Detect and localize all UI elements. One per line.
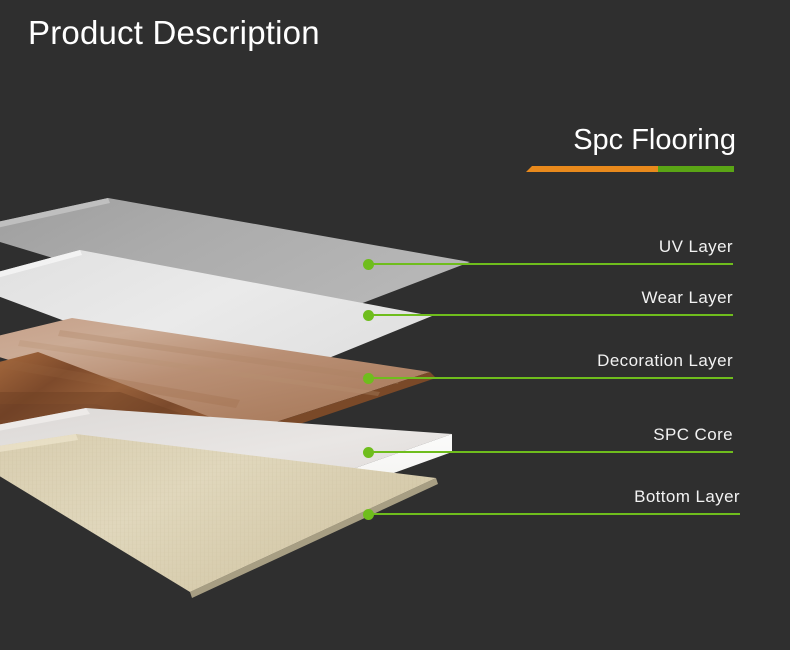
callout-leader-line: [368, 377, 733, 379]
underline-segment-orange: [526, 166, 658, 172]
spc-flooring-exploded-illustration: [0, 0, 790, 650]
callout-leader-line: [368, 513, 740, 515]
underline-segment-green: [658, 166, 734, 172]
callout-leader-line: [368, 314, 733, 316]
product-description-banner: Product Description Spc Flooring UV Laye…: [0, 0, 790, 650]
section-heading: Spc Flooring: [486, 124, 736, 157]
callout-label-wear-layer: Wear Layer: [641, 288, 733, 308]
page-title: Product Description: [28, 14, 320, 52]
callout-leader-line: [368, 263, 733, 265]
callout-label-decoration-layer: Decoration Layer: [597, 351, 733, 371]
callout-label-spc-core: SPC Core: [653, 425, 733, 445]
callout-leader-line: [368, 451, 733, 453]
callout-label-bottom-layer: Bottom Layer: [634, 487, 740, 507]
callout-label-uv-layer: UV Layer: [659, 237, 733, 257]
section-heading-underline: [526, 166, 734, 172]
